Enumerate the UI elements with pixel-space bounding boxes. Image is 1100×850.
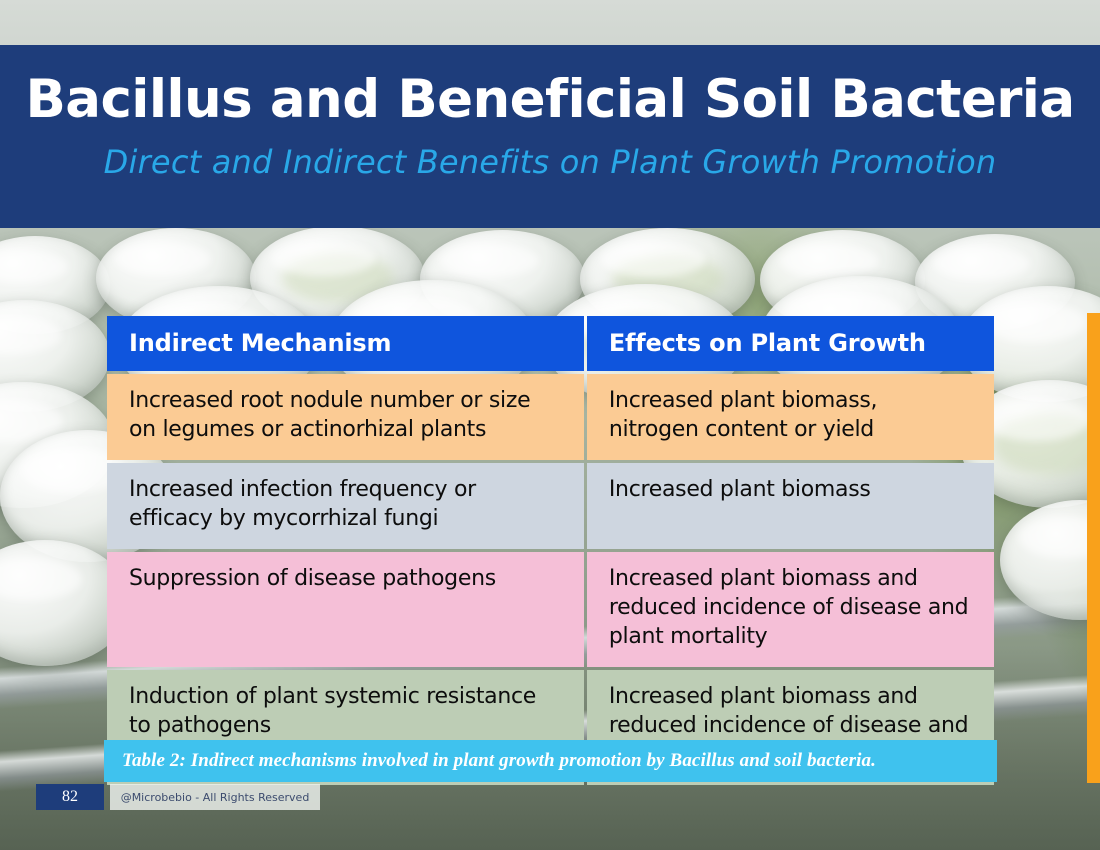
cell-effect: Increased plant biomass, nitrogen conten…: [587, 374, 994, 460]
table-caption-bar: Table 2: Indirect mechanisms involved in…: [104, 740, 997, 782]
cell-effect: Increased plant biomass and reduced inci…: [587, 552, 994, 667]
table-row: Increased infection frequency or efficac…: [107, 463, 994, 549]
table-body: Increased root nodule number or size on …: [107, 374, 994, 785]
table-header: Indirect Mechanism Effects on Plant Grow…: [107, 316, 994, 371]
cell-mechanism: Increased infection frequency or efficac…: [107, 463, 584, 549]
table-row: Increased root nodule number or size on …: [107, 374, 994, 460]
slide-canvas: Bacillus and Beneficial Soil Bacteria Di…: [0, 0, 1100, 850]
page-number-badge: 82: [36, 784, 104, 810]
copyright-notice: @Microbebio - All Rights Reserved: [110, 784, 320, 810]
table: Indirect Mechanism Effects on Plant Grow…: [104, 313, 997, 788]
page-subtitle: Direct and Indirect Benefits on Plant Gr…: [0, 143, 1100, 181]
column-header-indirect-mechanism: Indirect Mechanism: [107, 316, 584, 371]
table-caption-text: Table 2: Indirect mechanisms involved in…: [104, 750, 876, 772]
indirect-mechanism-table: Indirect Mechanism Effects on Plant Grow…: [104, 313, 997, 788]
right-accent-bar: [1087, 313, 1100, 783]
page-title: Bacillus and Beneficial Soil Bacteria: [0, 69, 1100, 130]
table-row: Suppression of disease pathogens Increas…: [107, 552, 994, 667]
cell-mechanism: Suppression of disease pathogens: [107, 552, 584, 667]
title-band: Bacillus and Beneficial Soil Bacteria Di…: [0, 45, 1100, 228]
cell-mechanism: Increased root nodule number or size on …: [107, 374, 584, 460]
table-header-row: Indirect Mechanism Effects on Plant Grow…: [107, 316, 994, 371]
cell-effect: Increased plant biomass: [587, 463, 994, 549]
column-header-effects-on-plant-growth: Effects on Plant Growth: [587, 316, 994, 371]
